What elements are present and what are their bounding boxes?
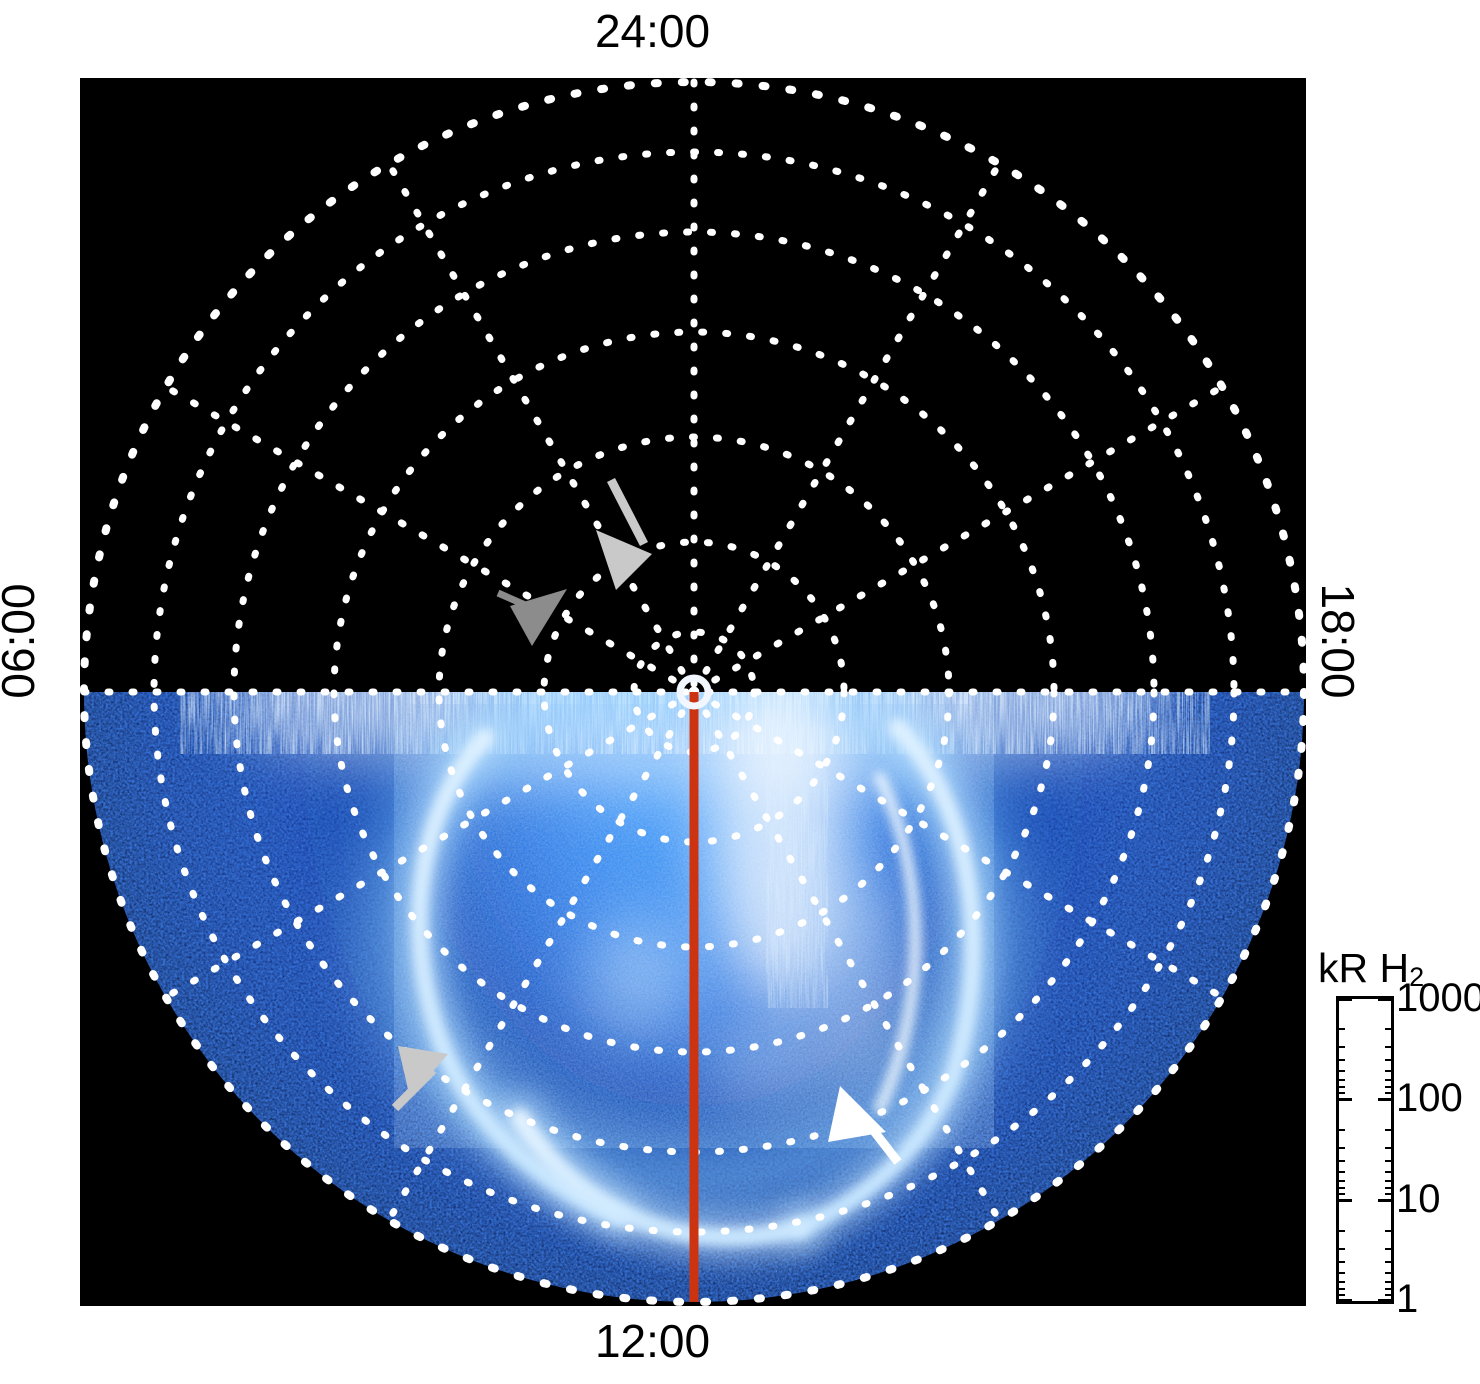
colorbar-minortick <box>1385 1281 1394 1283</box>
local-time-label-bottom: 12:00 <box>0 1318 1305 1364</box>
colorbar-minortick <box>1336 1059 1345 1061</box>
colorbar-minortick <box>1385 1046 1394 1048</box>
local-time-label-left: 06:00 <box>0 561 41 721</box>
colorbar-minortick <box>1336 1180 1345 1182</box>
colorbar-label-1000: 1000 <box>1396 978 1480 1018</box>
colorbar-minortick <box>1385 1294 1394 1296</box>
colorbar-tick-10 <box>1336 1199 1352 1202</box>
colorbar-minortick <box>1385 1288 1394 1290</box>
colorbar-minortick <box>1336 1046 1345 1048</box>
colorbar-minortick <box>1336 1171 1345 1173</box>
colorbar-label-100: 100 <box>1396 1078 1463 1118</box>
colorbar-minortick <box>1336 1187 1345 1189</box>
colorbar-minortick <box>1336 1129 1345 1131</box>
colorbar-tick-10-r <box>1378 1199 1394 1202</box>
colorbar-minortick <box>1385 1028 1394 1030</box>
colorbar-minortick <box>1385 1070 1394 1072</box>
colorbar-minortick <box>1385 1248 1394 1250</box>
colorbar-minortick <box>1336 1079 1345 1081</box>
colorbar-minortick <box>1385 1193 1394 1195</box>
colorbar-minortick <box>1385 1086 1394 1088</box>
auroral-image-canvas <box>80 78 1306 1306</box>
colorbar-minortick <box>1385 1187 1394 1189</box>
colorbar-minortick <box>1336 1193 1345 1195</box>
colorbar-minortick <box>1336 1248 1345 1250</box>
colorbar-tick-1000 <box>1336 998 1352 1001</box>
colorbar-minortick <box>1336 1160 1345 1162</box>
colorbar-minortick <box>1385 1079 1394 1081</box>
colorbar-minortick <box>1385 1160 1394 1162</box>
polar-plot-panel <box>80 78 1306 1306</box>
colorbar-minortick <box>1336 1281 1345 1283</box>
colorbar-minortick <box>1385 1180 1394 1182</box>
colorbar-minortick <box>1385 1272 1394 1274</box>
colorbar-minortick <box>1385 1129 1394 1131</box>
annotation-arrow-1 <box>596 480 652 590</box>
colorbar[interactable]: 1000 100 10 1 <box>1336 996 1394 1304</box>
colorbar-minortick <box>1336 1070 1345 1072</box>
colorbar-minortick <box>1385 1171 1394 1173</box>
colorbar-minortick <box>1336 1272 1345 1274</box>
colorbar-minortick <box>1336 1288 1345 1290</box>
colorbar-tick-1000-r <box>1378 998 1394 1001</box>
colorbar-minortick <box>1336 1230 1345 1232</box>
meridian-2000 <box>694 387 1222 692</box>
colorbar-minortick <box>1336 1147 1345 1149</box>
colorbar-minortick <box>1385 1147 1394 1149</box>
local-time-label-top: 24:00 <box>0 8 1305 54</box>
meridian-2200 <box>694 164 999 692</box>
colorbar-tick-100-r <box>1378 1098 1394 1101</box>
colorbar-tick-1 <box>1336 1299 1352 1302</box>
colorbar-label-1: 1 <box>1396 1279 1418 1319</box>
colorbar-minortick <box>1385 1059 1394 1061</box>
colorbar-tick-1-r <box>1378 1299 1394 1302</box>
colorbar-gradient <box>1336 996 1394 1304</box>
colorbar-minortick <box>1336 1261 1345 1263</box>
colorbar-minortick <box>1336 1028 1345 1030</box>
colorbar-minortick <box>1385 1230 1394 1232</box>
colorbar-minortick <box>1336 1092 1345 1094</box>
colorbar-tick-100 <box>1336 1098 1352 1101</box>
colorbar-minortick <box>1336 1294 1345 1296</box>
colorbar-minortick <box>1385 1261 1394 1263</box>
colorbar-label-10: 10 <box>1396 1179 1441 1219</box>
local-time-label-right: 18:00 <box>1315 561 1361 721</box>
colorbar-minortick <box>1385 1092 1394 1094</box>
colorbar-minortick <box>1336 1086 1345 1088</box>
